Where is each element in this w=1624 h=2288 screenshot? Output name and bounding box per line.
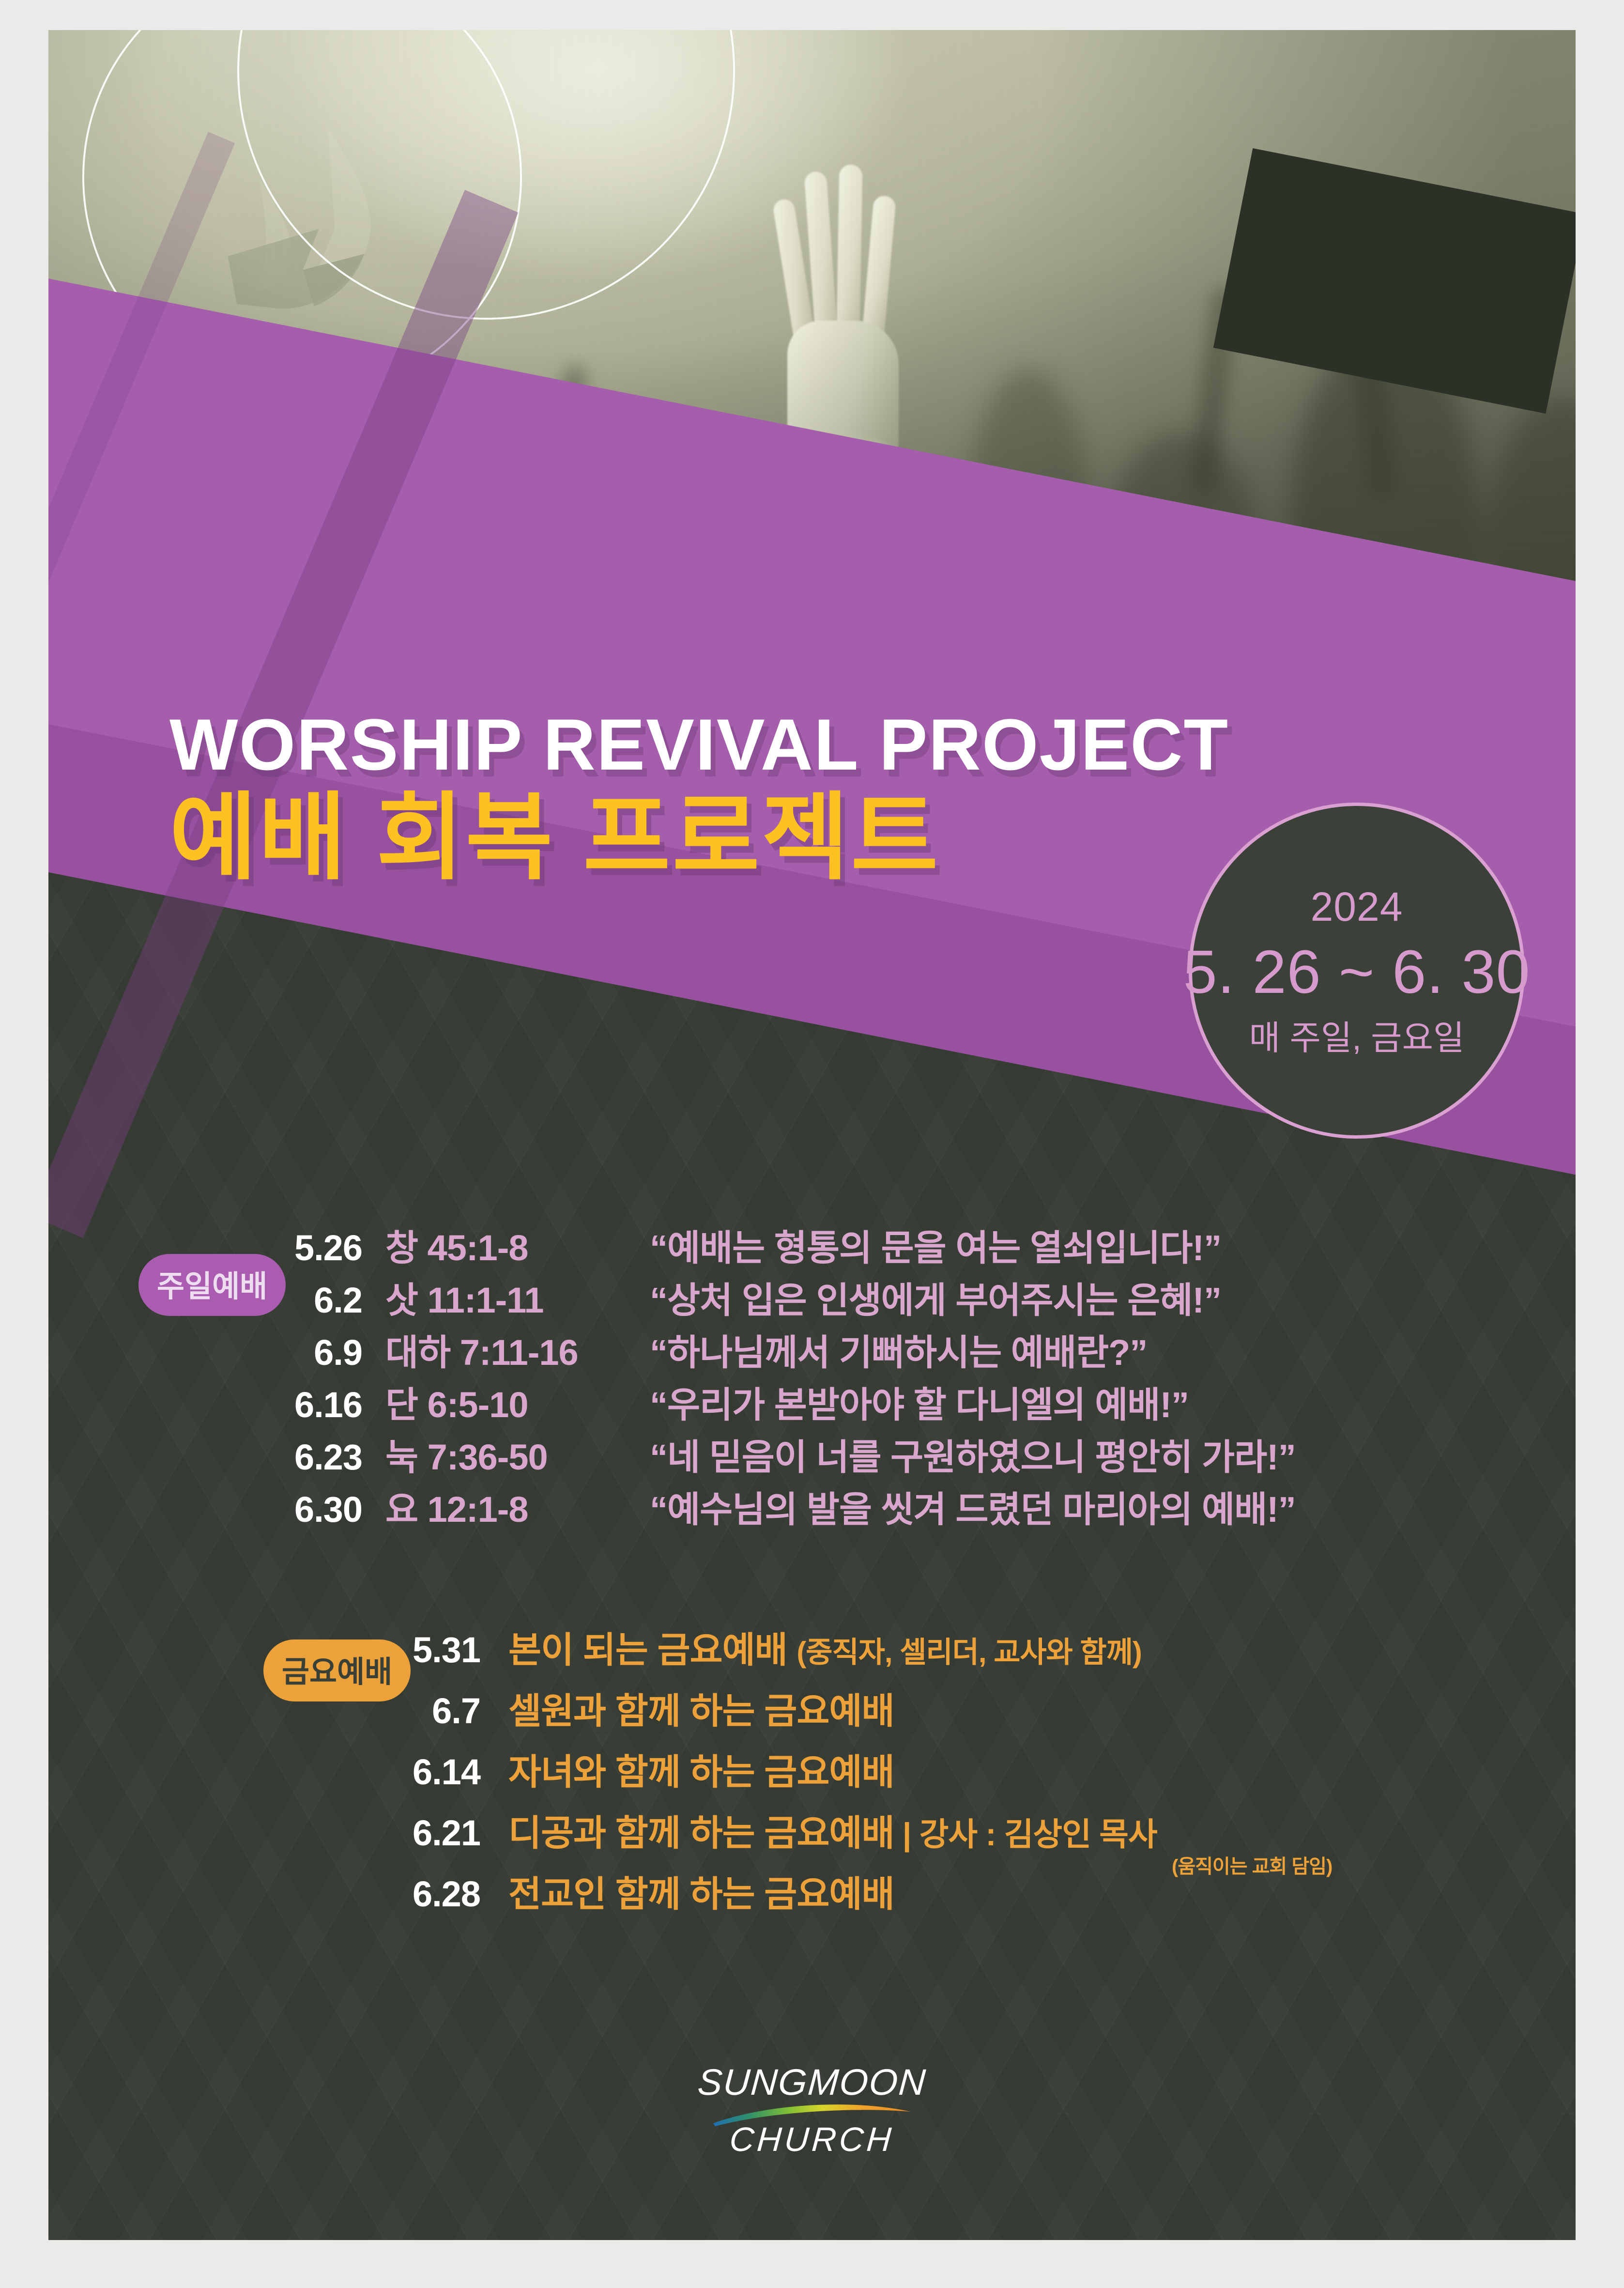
row-ref: 삿 11:1-11 (385, 1271, 645, 1323)
row-title: “네 믿음이 너를 구원하였으니 평안히 가라!” (650, 1428, 1296, 1480)
date-range: 5. 26 ~ 6. 30 (1183, 938, 1530, 1006)
row-date: 6.23 (217, 1437, 362, 1478)
decorative-circle-outline (237, 30, 735, 320)
row-label: 전교인 함께 하는 금요예배 (508, 1865, 894, 1917)
row-date: 6.21 (349, 1812, 480, 1854)
row-label: 자녀와 함께 하는 금요예배 (508, 1743, 894, 1795)
schedule-section: 주일예배 5.26 창 45:1-8 “예배는 형통의 문을 여는 열쇠입니다!… (48, 1219, 1576, 1926)
headline-block: WORSHIP REVIVAL PROJECT 예배 회복 프로젝트 (169, 708, 1229, 886)
row-ref: 창 45:1-8 (385, 1219, 645, 1271)
headline-korean: 예배 회복 프로젝트 (169, 789, 1229, 886)
list-item: 6.28 전교인 함께 하는 금요예배 (48, 1865, 1576, 1926)
row-ref: 요 12:1-8 (385, 1481, 645, 1532)
row-label: 셀원과 함께 하는 금요예배 (508, 1682, 894, 1734)
badge-sunday-worship: 주일예배 (138, 1254, 286, 1316)
row-ref: 단 6:5-10 (385, 1376, 645, 1428)
row-title: “예배는 형통의 문을 여는 열쇠입니다!” (650, 1219, 1221, 1271)
row-date: 6.9 (217, 1332, 362, 1373)
logo-wordmark-bottom: CHURCH (729, 2122, 895, 2156)
row-date: 6.16 (217, 1384, 362, 1425)
row-label: 본이 되는 금요예배 (중직자, 셀리더, 교사와 함께) (508, 1621, 1142, 1673)
row-title: “상처 입은 인생에게 부어주시는 은혜!” (650, 1271, 1221, 1323)
friday-schedule-group: 금요예배 5.31 본이 되는 금요예배 (중직자, 셀리더, 교사와 함께) … (48, 1621, 1576, 1926)
speaker-subnote: (움직이는 교회 담임) (1172, 1851, 1332, 1879)
row-title: “하나님께서 기뻐하시는 예배란?” (650, 1324, 1147, 1376)
row-date: 6.30 (217, 1489, 362, 1530)
logo-wordmark-top: SUNGMOON (696, 2064, 927, 2101)
poster-canvas: WORSHIP REVIVAL PROJECT 예배 회복 프로젝트 2024 … (48, 30, 1576, 2240)
date-year: 2024 (1311, 886, 1403, 927)
church-logo: SUNGMOON CHURCH (48, 2064, 1576, 2156)
sunday-schedule-group: 주일예배 5.26 창 45:1-8 “예배는 형통의 문을 여는 열쇠입니다!… (48, 1219, 1576, 1533)
row-title: “우리가 본받아야 할 다니엘의 예배!” (650, 1376, 1189, 1428)
decorative-circle-outline (82, 30, 522, 397)
poster-root: WORSHIP REVIVAL PROJECT 예배 회복 프로젝트 2024 … (0, 0, 1624, 2288)
row-ref: 대하 7:11-16 (385, 1324, 645, 1376)
headline-english: WORSHIP REVIVAL PROJECT (169, 708, 1229, 781)
table-row: 6.23 눅 7:36-50 “네 믿음이 너를 구원하였으니 평안히 가라!” (48, 1428, 1576, 1481)
hero-photo (48, 30, 1576, 679)
row-ref: 눅 7:36-50 (385, 1428, 645, 1480)
table-row: 6.16 단 6:5-10 “우리가 본받아야 할 다니엘의 예배!” (48, 1376, 1576, 1428)
row-title: “예수님의 발을 씻겨 드렸던 마리아의 예배!” (650, 1481, 1296, 1532)
table-row: 6.9 대하 7:11-16 “하나님께서 기뻐하시는 예배란?” (48, 1324, 1576, 1376)
date-note: 매 주일, 금요일 (1249, 1021, 1465, 1055)
row-label: 디공과 함께 하는 금요예배 | 강사 : 김상인 목사 (508, 1804, 1157, 1856)
table-row: 6.30 요 12:1-8 “예수님의 발을 씻겨 드렸던 마리아의 예배!” (48, 1481, 1576, 1533)
list-item: 6.21 디공과 함께 하는 금요예배 | 강사 : 김상인 목사 (움직이는 … (48, 1804, 1576, 1865)
badge-friday-worship: 금요예배 (263, 1639, 411, 1701)
row-date: 6.14 (349, 1751, 480, 1793)
date-circle: 2024 5. 26 ~ 6. 30 매 주일, 금요일 (1189, 803, 1525, 1139)
dove-flame-icon (194, 120, 421, 347)
list-item: 6.14 자녀와 함께 하는 금요예배 (48, 1743, 1576, 1804)
row-date: 6.28 (349, 1873, 480, 1915)
